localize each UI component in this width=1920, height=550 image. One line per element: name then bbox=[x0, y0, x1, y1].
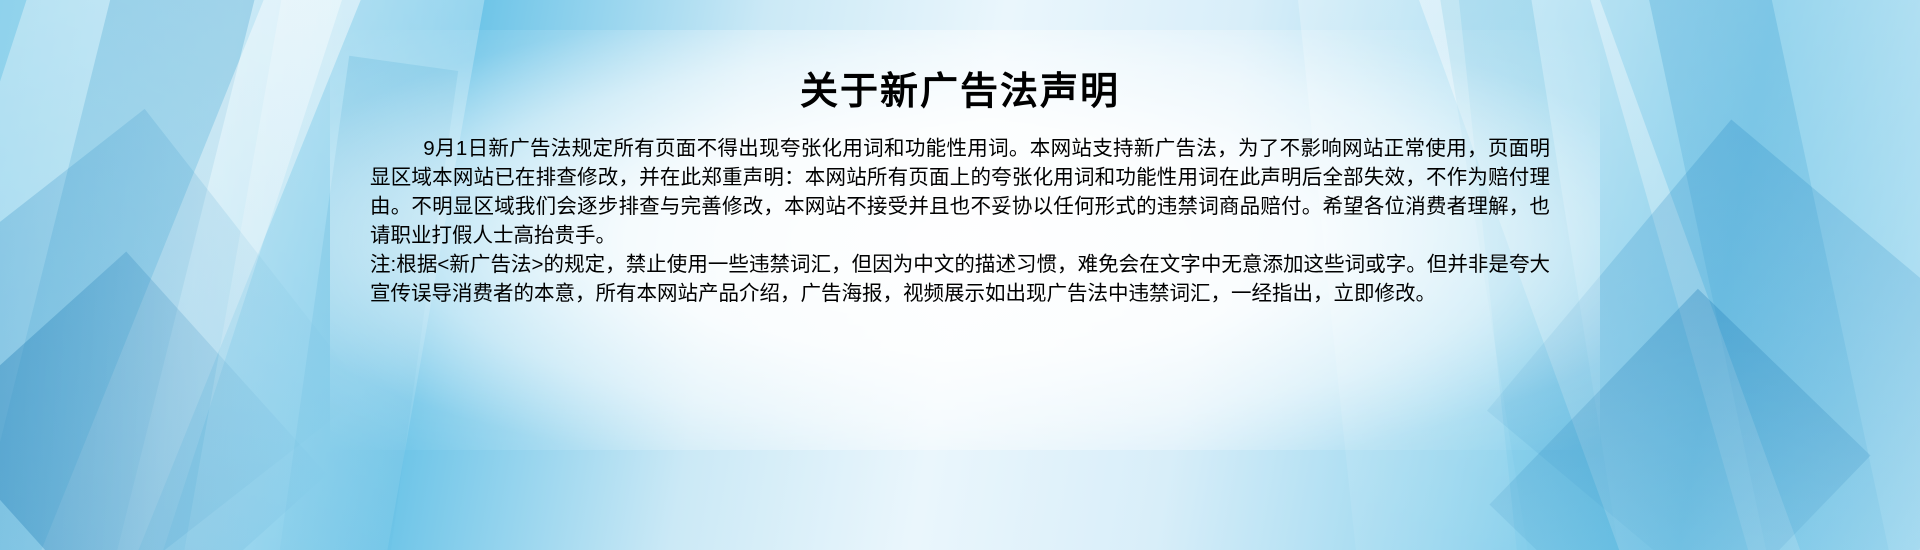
decorative-shard bbox=[0, 0, 359, 550]
statement-paragraph-2: 注:根据<新广告法>的规定，禁止使用一些违禁词汇，但因为中文的描述习惯，难免会在… bbox=[370, 250, 1550, 308]
decorative-shard bbox=[1489, 289, 1870, 550]
page-title: 关于新广告法声明 bbox=[370, 70, 1550, 116]
decorative-shard bbox=[0, 0, 420, 550]
statement-content: 关于新广告法声明 9月1日新广告法规定所有页面不得出现夸张化用词和功能性用词。本… bbox=[370, 70, 1550, 308]
decorative-shard bbox=[0, 109, 366, 550]
advertising-law-statement-banner: 关于新广告法声明 9月1日新广告法规定所有页面不得出现夸张化用词和功能性用词。本… bbox=[0, 0, 1920, 550]
decorative-shard bbox=[1487, 119, 1920, 550]
statement-paragraph-1: 9月1日新广告法规定所有页面不得出现夸张化用词和功能性用词。本网站支持新广告法，… bbox=[370, 134, 1550, 250]
decorative-shard bbox=[0, 252, 327, 550]
statement-body: 9月1日新广告法规定所有页面不得出现夸张化用词和功能性用词。本网站支持新广告法，… bbox=[370, 134, 1550, 309]
decorative-shard bbox=[1612, 0, 1920, 550]
decorative-shard bbox=[0, 0, 287, 550]
decorative-shard bbox=[1562, 0, 1920, 550]
